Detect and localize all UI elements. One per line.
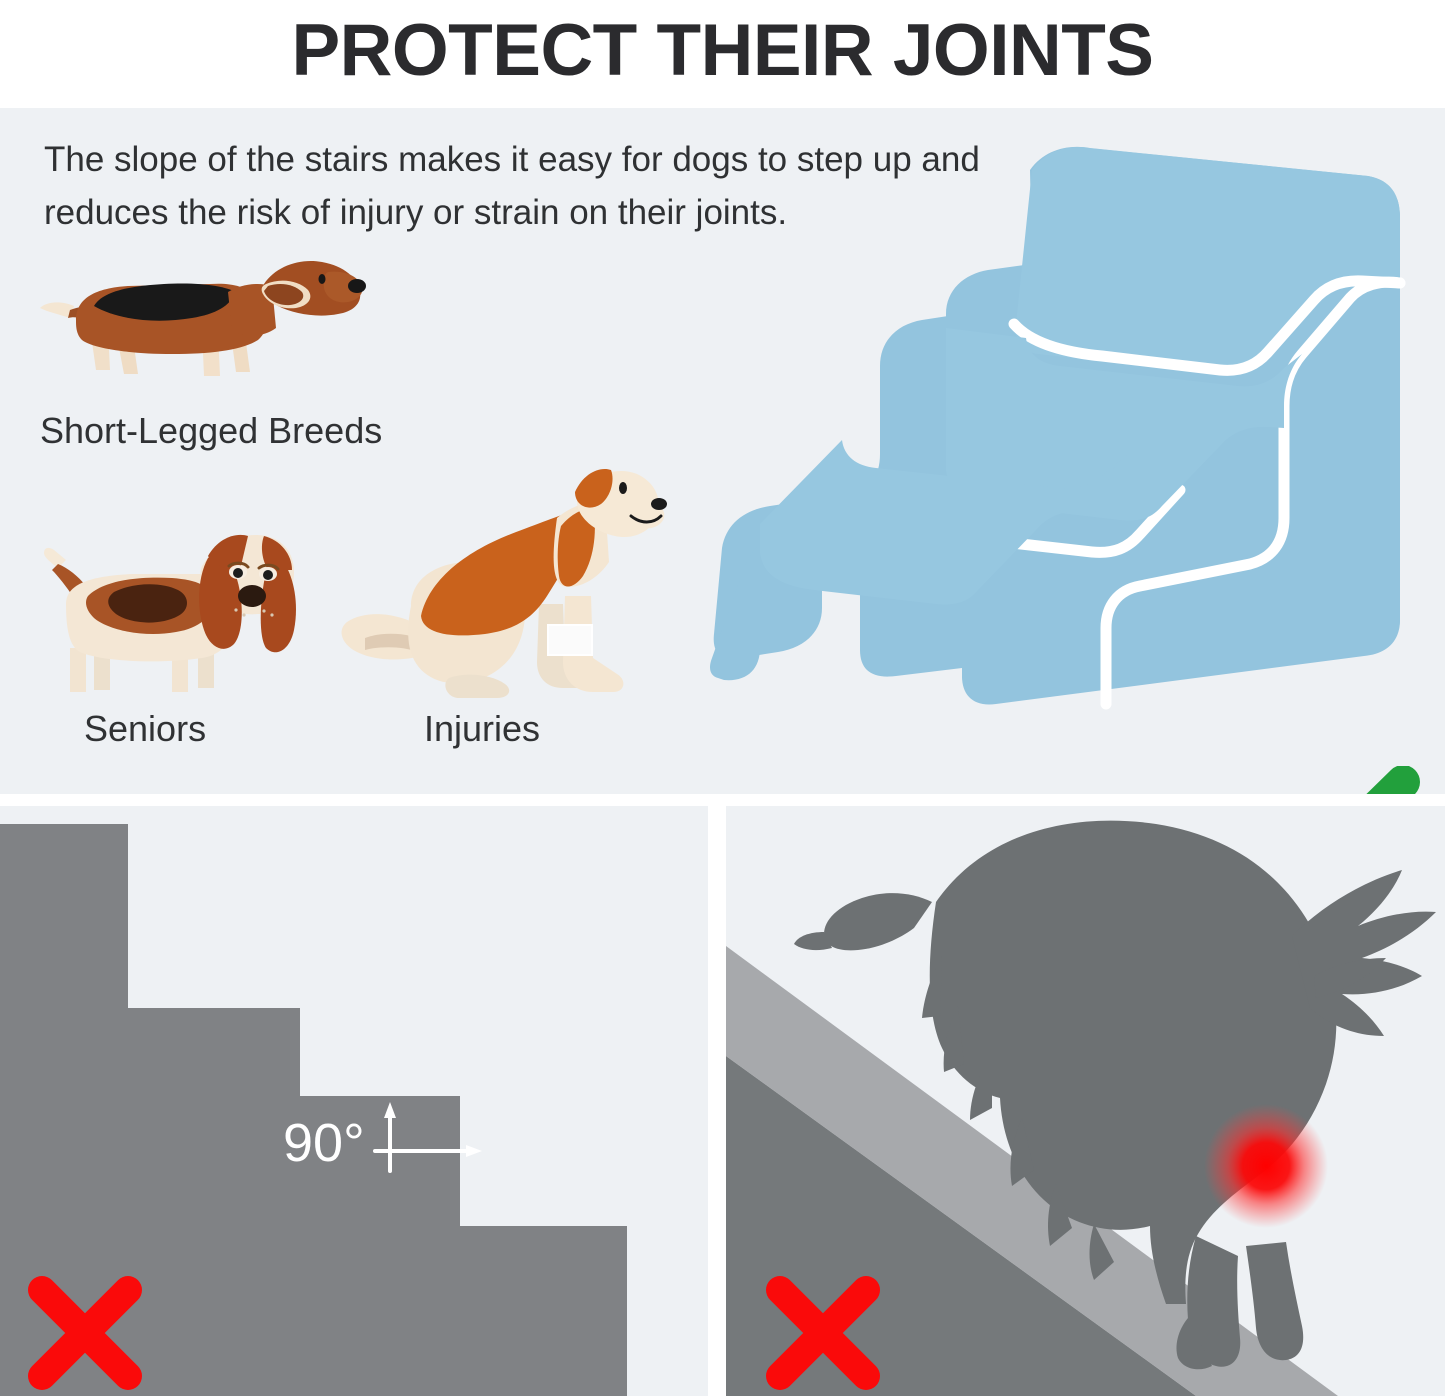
green-check-icon — [1245, 766, 1420, 794]
dog-label-injuries: Injuries — [424, 708, 540, 750]
red-x-icon — [24, 1272, 146, 1394]
red-pain-glow-icon — [1204, 1104, 1328, 1228]
page-title: PROTECT THEIR JOINTS — [0, 0, 1445, 100]
top-panel: The slope of the stairs makes it easy fo… — [0, 108, 1445, 794]
dog-label-seniors: Seniors — [84, 708, 206, 750]
red-x-icon — [762, 1272, 884, 1394]
dog-label-short-legged-breeds: Short-Legged Breeds — [40, 410, 382, 452]
blue-pet-stairs-icon — [700, 128, 1430, 748]
infographic-page: PROTECT THEIR JOINTS The slope of the st… — [0, 0, 1445, 1396]
sitting-dog-bandaged-leg-icon — [325, 456, 675, 706]
basset-hound-front-icon — [32, 520, 322, 700]
basset-hound-side-icon — [32, 248, 372, 378]
angle-label-90-degrees: 90° — [283, 1112, 365, 1174]
